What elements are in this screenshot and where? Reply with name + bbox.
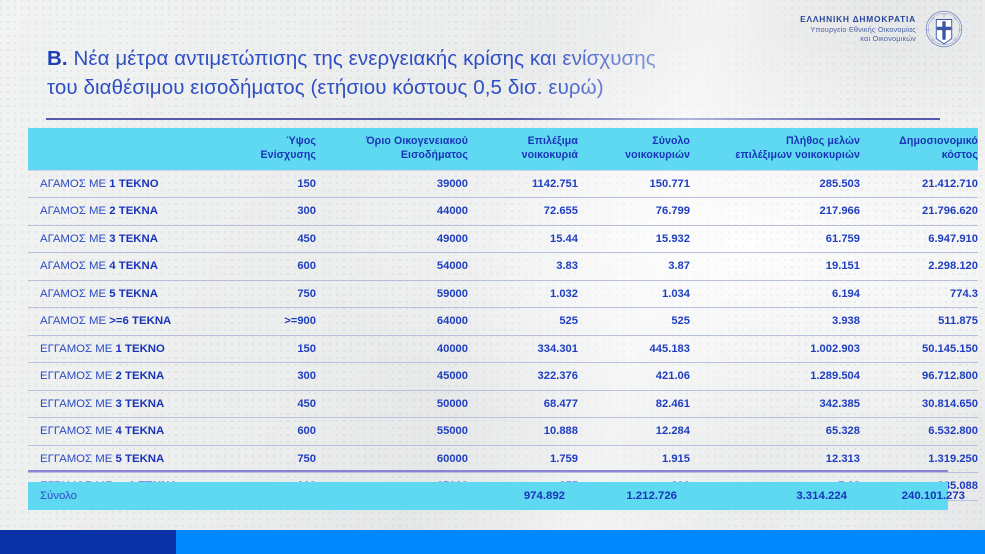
- cell-ypsos: 300: [228, 363, 316, 391]
- row-label-emphasis: 4 ΤΕΚΝΑ: [116, 425, 165, 437]
- row-label-prefix: ΕΓΓΑΜΟΣ ΜΕ: [40, 425, 116, 437]
- row-label-emphasis: 2 ΤΕΚΝΑ: [109, 205, 158, 217]
- slide: ΕΛΛΗΝΙΚΗ ΔΗΜΟΚΡΑΤΙΑ Υπουργείο Εθνικής Οι…: [0, 0, 985, 554]
- cell-synolo: 445.183: [578, 335, 690, 363]
- cell-synolo: 15.932: [578, 225, 690, 253]
- greek-coat-of-arms-icon: [925, 10, 963, 48]
- column-header-synolo-noikokyrion: Σύνολονοικοκυριών: [578, 128, 690, 170]
- row-label: ΑΓΑΜΟΣ ΜΕ 1 ΤΕΚΝΟ: [28, 170, 228, 198]
- cell-kostos: 96.712.800: [860, 363, 978, 391]
- column-header-plithos-melon: Πλήθος μελώνεπιλέξιμων νοικοκυριών: [690, 128, 860, 170]
- cell-orio: 44000: [316, 198, 468, 226]
- cell-ypsos: 600: [228, 418, 316, 446]
- row-label-emphasis: 5 ΤΕΚΝΑ: [109, 288, 158, 300]
- table-row: ΕΓΓΑΜΟΣ ΜΕ 1 ΤΕΚΝΟ15040000334.301445.183…: [28, 335, 978, 363]
- row-label: ΑΓΑΜΟΣ ΜΕ 5 ΤΕΚΝΑ: [28, 280, 228, 308]
- row-label-emphasis: 2 ΤΕΚΝΑ: [116, 370, 165, 382]
- row-label-prefix: ΕΓΓΑΜΟΣ ΜΕ: [40, 370, 116, 382]
- row-label: ΑΓΑΜΟΣ ΜΕ 2 ΤΕΚΝΑ: [28, 198, 228, 226]
- cell-synolo: 82.461: [578, 390, 690, 418]
- cell-ypsos: 600: [228, 253, 316, 281]
- cell-plithos: 61.759: [690, 225, 860, 253]
- logo-subtitle-line1: Υπουργείο Εθνικής Οικονομίας: [800, 25, 916, 34]
- row-label: ΕΓΓΑΜΟΣ ΜΕ 3 ΤΕΚΝΑ: [28, 390, 228, 418]
- measures-table: ΎψοςΕνίσχυσης Όριο ΟικογενειακούΕισοδήμα…: [28, 128, 948, 501]
- table-row: ΕΓΓΑΜΟΣ ΜΕ 2 ΤΕΚΝΑ30045000322.376421.061…: [28, 363, 978, 391]
- total-plithos: 3.314.224: [690, 482, 860, 510]
- row-label-prefix: ΕΓΓΑΜΟΣ ΜΕ: [40, 398, 116, 410]
- row-label-prefix: ΑΓΑΜΟΣ ΜΕ: [40, 205, 109, 217]
- total-ypsos: [228, 482, 316, 510]
- page-title-line1: Νέα μέτρα αντιμετώπισης της ενεργειακής …: [68, 47, 656, 70]
- cell-epilexima: 15.44: [468, 225, 578, 253]
- cell-plithos: 1.002.903: [690, 335, 860, 363]
- cell-kostos: 2.298.120: [860, 253, 978, 281]
- cell-kostos: 6.532.800: [860, 418, 978, 446]
- cell-ypsos: 450: [228, 390, 316, 418]
- cell-kostos: 774.3: [860, 280, 978, 308]
- cell-epilexima: 72.655: [468, 198, 578, 226]
- table-body: ΑΓΑΜΟΣ ΜΕ 1 ΤΕΚΝΟ150390001142.751150.771…: [28, 170, 978, 500]
- row-label-emphasis: 3 ΤΕΚΝΑ: [116, 398, 165, 410]
- row-label-prefix: ΕΓΓΑΜΟΣ ΜΕ: [40, 343, 116, 355]
- cell-epilexima: 3.83: [468, 253, 578, 281]
- footer-bars: [0, 530, 985, 554]
- row-label-prefix: ΑΓΑΜΟΣ ΜΕ: [40, 288, 109, 300]
- cell-plithos: 19.151: [690, 253, 860, 281]
- table-row: ΕΓΓΑΜΟΣ ΜΕ 5 ΤΕΚΝΑ750600001.7591.91512.3…: [28, 445, 978, 473]
- row-label-emphasis: >=6 ΤΕΚΝΑ: [109, 315, 171, 327]
- cell-plithos: 342.385: [690, 390, 860, 418]
- cell-synolo: 150.771: [578, 170, 690, 198]
- table-row: ΕΓΓΑΜΟΣ ΜΕ 4 ΤΕΚΝΑ6005500010.88812.28465…: [28, 418, 978, 446]
- cell-ypsos: 450: [228, 225, 316, 253]
- cell-orio: 59000: [316, 280, 468, 308]
- cell-orio: 45000: [316, 363, 468, 391]
- cell-plithos: 6.194: [690, 280, 860, 308]
- cell-epilexima: 1142.751: [468, 170, 578, 198]
- total-epilexima: 974.892: [468, 482, 578, 510]
- title-divider: [46, 118, 940, 120]
- total-label: Σύνολο: [28, 482, 228, 510]
- cell-plithos: 12.313: [690, 445, 860, 473]
- page-title-line2: του διαθέσιμου εισοδήματος (ετήσιου κόστ…: [47, 76, 604, 99]
- total-kostos: 240.101.273: [860, 482, 978, 510]
- cell-orio: 54000: [316, 253, 468, 281]
- row-label-emphasis: 1 ΤΕΚΝΟ: [116, 343, 165, 355]
- cell-ypsos: >=900: [228, 308, 316, 336]
- cell-synolo: 3.87: [578, 253, 690, 281]
- row-label-emphasis: 1 ΤΕΚΝΟ: [109, 178, 158, 190]
- table-header: ΎψοςΕνίσχυσης Όριο ΟικογενειακούΕισοδήμα…: [28, 128, 978, 170]
- footer-bar-blue: [176, 530, 985, 554]
- cell-orio: 60000: [316, 445, 468, 473]
- cell-orio: 40000: [316, 335, 468, 363]
- cell-kostos: 50.145.150: [860, 335, 978, 363]
- row-label-prefix: ΕΓΓΑΜΟΣ ΜΕ: [40, 453, 116, 465]
- table-header-row: ΎψοςΕνίσχυσης Όριο ΟικογενειακούΕισοδήμα…: [28, 128, 978, 170]
- cell-plithos: 1.289.504: [690, 363, 860, 391]
- cell-kostos: 6.947.910: [860, 225, 978, 253]
- cell-synolo: 1.034: [578, 280, 690, 308]
- row-label: ΑΓΑΜΟΣ ΜΕ 3 ΤΕΚΝΑ: [28, 225, 228, 253]
- row-label: ΑΓΑΜΟΣ ΜΕ 4 ΤΕΚΝΑ: [28, 253, 228, 281]
- cell-epilexima: 334.301: [468, 335, 578, 363]
- page-title: Β. Νέα μέτρα αντιμετώπισης της ενεργειακ…: [47, 44, 847, 102]
- cell-ypsos: 300: [228, 198, 316, 226]
- table-row: ΑΓΑΜΟΣ ΜΕ 3 ΤΕΚΝΑ4504900015.4415.93261.7…: [28, 225, 978, 253]
- row-label: ΑΓΑΜΟΣ ΜΕ >=6 ΤΕΚΝΑ: [28, 308, 228, 336]
- table-row: ΕΓΓΑΜΟΣ ΜΕ 3 ΤΕΚΝΑ4505000068.47782.46134…: [28, 390, 978, 418]
- cell-synolo: 12.284: [578, 418, 690, 446]
- row-label-emphasis: 5 ΤΕΚΝΑ: [116, 453, 165, 465]
- cell-ypsos: 750: [228, 445, 316, 473]
- cell-kostos: 511.875: [860, 308, 978, 336]
- cell-ypsos: 750: [228, 280, 316, 308]
- row-label-prefix: ΑΓΑΜΟΣ ΜΕ: [40, 260, 109, 272]
- cell-ypsos: 150: [228, 170, 316, 198]
- logo-subtitle-line2: και Οικονομικών: [800, 34, 916, 43]
- table-row: ΑΓΑΜΟΣ ΜΕ >=6 ΤΕΚΝΑ>=900640005255253.938…: [28, 308, 978, 336]
- cell-epilexima: 68.477: [468, 390, 578, 418]
- column-header-orio-eisodimatos: Όριο ΟικογενειακούΕισοδήματος: [316, 128, 468, 170]
- cell-synolo: 1.915: [578, 445, 690, 473]
- total-orio: [316, 482, 468, 510]
- cell-orio: 50000: [316, 390, 468, 418]
- row-label: ΕΓΓΑΜΟΣ ΜΕ 2 ΤΕΚΝΑ: [28, 363, 228, 391]
- total-separator: [28, 470, 948, 472]
- row-label-emphasis: 3 ΤΕΚΝΑ: [109, 233, 158, 245]
- cell-synolo: 421.06: [578, 363, 690, 391]
- row-label-prefix: ΑΓΑΜΟΣ ΜΕ: [40, 315, 109, 327]
- cell-orio: 39000: [316, 170, 468, 198]
- cell-epilexima: 525: [468, 308, 578, 336]
- cell-synolo: 525: [578, 308, 690, 336]
- cell-orio: 55000: [316, 418, 468, 446]
- table-row: ΑΓΑΜΟΣ ΜΕ 4 ΤΕΚΝΑ600540003.833.8719.1512…: [28, 253, 978, 281]
- table-row: ΑΓΑΜΟΣ ΜΕ 2 ΤΕΚΝΑ3004400072.65576.799217…: [28, 198, 978, 226]
- cell-synolo: 76.799: [578, 198, 690, 226]
- cell-plithos: 65.328: [690, 418, 860, 446]
- cell-plithos: 285.503: [690, 170, 860, 198]
- table-row: ΑΓΑΜΟΣ ΜΕ 5 ΤΕΚΝΑ750590001.0321.0346.194…: [28, 280, 978, 308]
- cell-epilexima: 10.888: [468, 418, 578, 446]
- row-label: ΕΓΓΑΜΟΣ ΜΕ 4 ΤΕΚΝΑ: [28, 418, 228, 446]
- cell-orio: 49000: [316, 225, 468, 253]
- total-row: Σύνολο 974.892 1.212.726 3.314.224 240.1…: [28, 482, 948, 510]
- column-header-ypsos-enischysis: ΎψοςΕνίσχυσης: [228, 128, 316, 170]
- logo-text-block: ΕΛΛΗΝΙΚΗ ΔΗΜΟΚΡΑΤΙΑ Υπουργείο Εθνικής Οι…: [800, 14, 916, 44]
- column-header-category: [28, 128, 228, 170]
- footer-bar-navy: [0, 530, 176, 554]
- row-label-prefix: ΑΓΑΜΟΣ ΜΕ: [40, 233, 109, 245]
- cell-plithos: 217.966: [690, 198, 860, 226]
- ministry-logo: ΕΛΛΗΝΙΚΗ ΔΗΜΟΚΡΑΤΙΑ Υπουργείο Εθνικής Οι…: [800, 10, 963, 48]
- total-synolo: 1.212.726: [578, 482, 690, 510]
- cell-epilexima: 1.759: [468, 445, 578, 473]
- page-title-lead: Β.: [47, 47, 68, 70]
- table-row: ΑΓΑΜΟΣ ΜΕ 1 ΤΕΚΝΟ150390001142.751150.771…: [28, 170, 978, 198]
- cell-plithos: 3.938: [690, 308, 860, 336]
- row-label-prefix: ΑΓΑΜΟΣ ΜΕ: [40, 178, 109, 190]
- cell-epilexima: 1.032: [468, 280, 578, 308]
- cell-kostos: 21.412.710: [860, 170, 978, 198]
- cell-kostos: 21.796.620: [860, 198, 978, 226]
- column-header-dimosionomiko-kostos: Δημοσιονομικόκόστος: [860, 128, 978, 170]
- cell-kostos: 1.319.250: [860, 445, 978, 473]
- row-label: ΕΓΓΑΜΟΣ ΜΕ 5 ΤΕΚΝΑ: [28, 445, 228, 473]
- cell-orio: 64000: [316, 308, 468, 336]
- row-label-emphasis: 4 ΤΕΚΝΑ: [109, 260, 158, 272]
- row-label: ΕΓΓΑΜΟΣ ΜΕ 1 ΤΕΚΝΟ: [28, 335, 228, 363]
- logo-title: ΕΛΛΗΝΙΚΗ ΔΗΜΟΚΡΑΤΙΑ: [800, 14, 916, 25]
- column-header-epilexima-noikokyria: Επιλέξιμανοικοκυριά: [468, 128, 578, 170]
- cell-epilexima: 322.376: [468, 363, 578, 391]
- cell-kostos: 30.814.650: [860, 390, 978, 418]
- cell-ypsos: 150: [228, 335, 316, 363]
